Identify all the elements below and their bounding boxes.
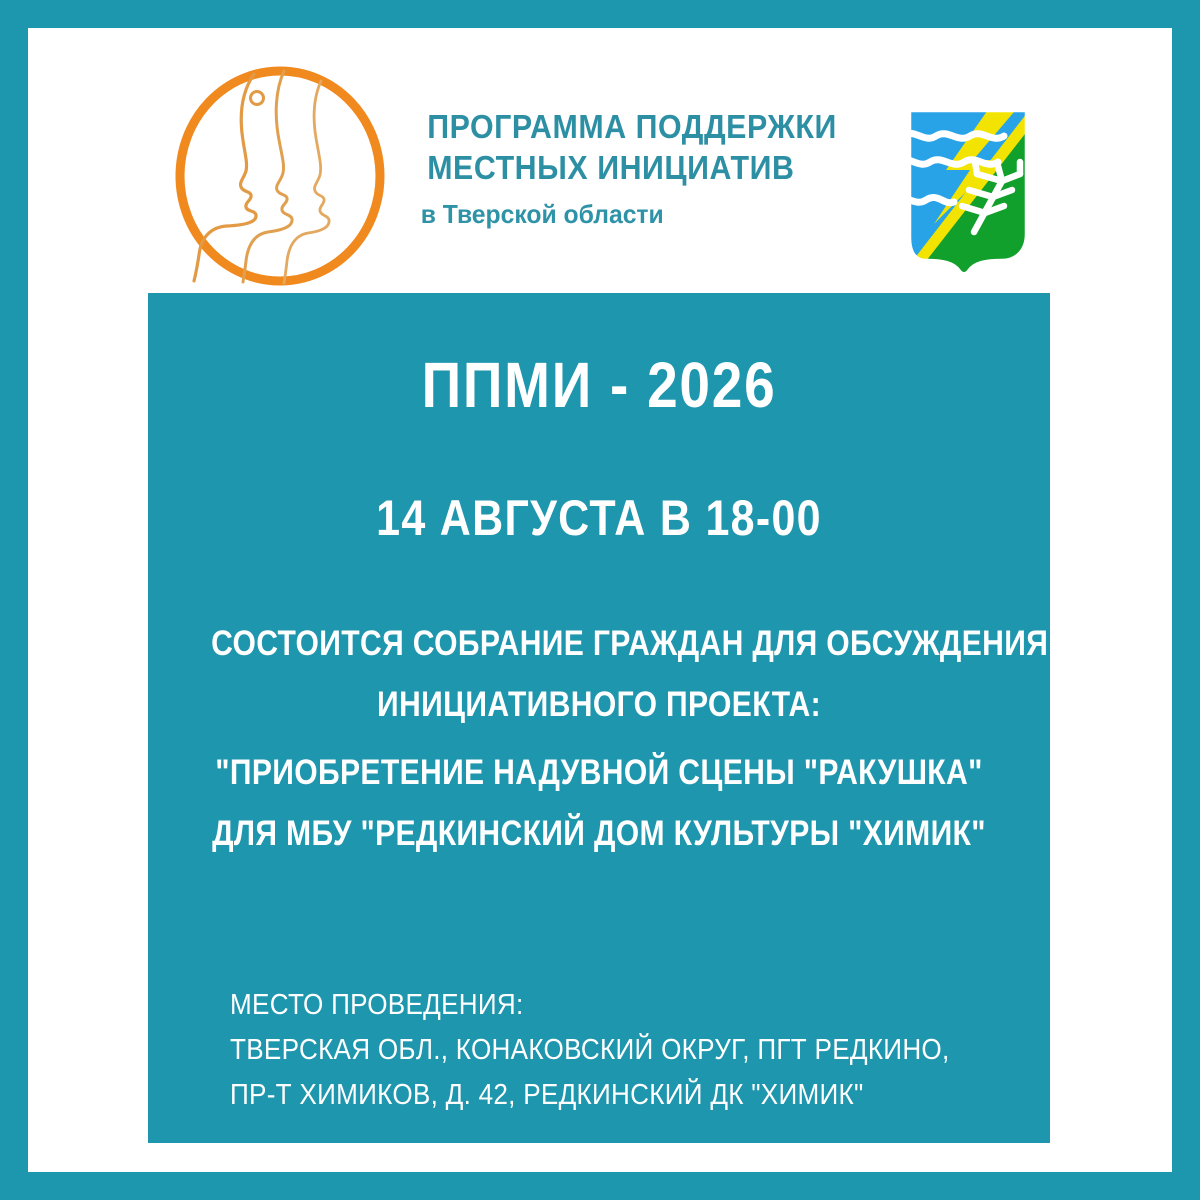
arms-wave-3 [892, 197, 954, 202]
event-datetime: 14 АВГУСТА В 18-00 [211, 489, 987, 547]
poster-frame: ПРОГРАММА ПОДДЕРЖКИ МЕСТНЫХ ИНИЦИАТИВ в … [0, 0, 1200, 1200]
arms-wave-1 [902, 133, 1004, 138]
description-line: ИНИЦИАТИВНОГО ПРОЕКТА: [211, 674, 987, 735]
description-line: ДЛЯ МБУ "РЕДКИНСКИЙ ДОМ КУЛЬТУРЫ "ХИМИК" [211, 803, 987, 864]
venue-address-line: ПР-Т ХИМИКОВ, Д. 42, РЕДКИНСКИЙ ДК "ХИМИ… [230, 1073, 932, 1118]
konakovo-coat-of-arms-icon [874, 74, 1050, 274]
description-line: СОСТОИТСЯ СОБРАНИЕ ГРАЖДАН ДЛЯ ОБСУЖДЕНИ… [211, 613, 987, 674]
logo-line-1: ПРОГРАММА ПОДДЕРЖКИ [427, 106, 823, 147]
venue-address-line: ТВЕРСКАЯ ОБЛ., КОНАКОВСКИЙ ОКРУГ, ПГТ РЕ… [230, 1028, 932, 1073]
arms-wave-2 [896, 159, 998, 164]
venue-block: МЕСТО ПРОВЕДЕНИЯ: ТВЕРСКАЯ ОБЛ., КОНАКОВ… [230, 983, 1010, 1118]
logo-line-3: в Тверской области [421, 196, 830, 232]
page-title: ППМИ - 2026 [211, 350, 987, 420]
event-description: СОСТОИТСЯ СОБРАНИЕ ГРАЖДАН ДЛЯ ОБСУЖДЕНИ… [148, 613, 1050, 864]
program-logo-wordmark: ПРОГРАММА ПОДДЕРЖКИ МЕСТНЫХ ИНИЦИАТИВ в … [410, 106, 840, 232]
poster-header: ПРОГРАММА ПОДДЕРЖКИ МЕСТНЫХ ИНИЦИАТИВ в … [28, 28, 1172, 293]
poster-white-canvas: ПРОГРАММА ПОДДЕРЖКИ МЕСТНЫХ ИНИЦИАТИВ в … [28, 28, 1172, 1172]
venue-label: МЕСТО ПРОВЕДЕНИЯ: [230, 983, 932, 1028]
description-line: "ПРИОБРЕТЕНИЕ НАДУВНОЙ СЦЕНЫ "РАКУШКА" [211, 742, 987, 803]
announcement-panel: ППМИ - 2026 14 АВГУСТА В 18-00 СОСТОИТСЯ… [148, 293, 1050, 1143]
three-profiles-circle-icon [171, 65, 389, 287]
logo-line-2: МЕСТНЫХ ИНИЦИАТИВ [427, 147, 823, 188]
